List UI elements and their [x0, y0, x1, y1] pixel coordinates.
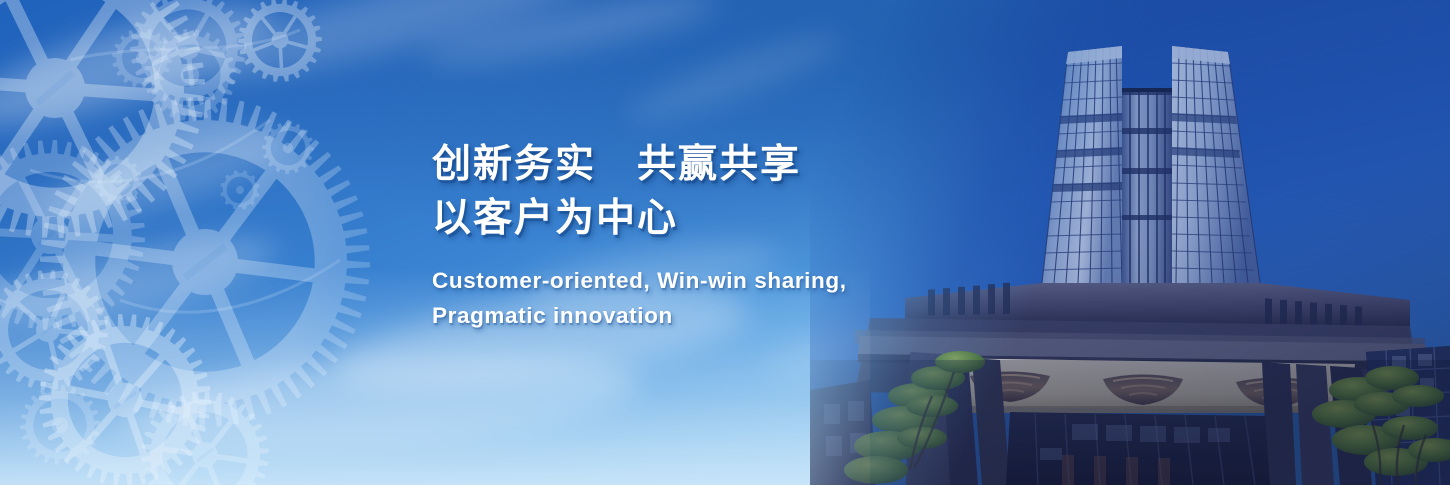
hero-banner: 创新务实 共赢共享 以客户为中心 Customer-oriented, Win-…: [0, 0, 1450, 485]
banner-copy: 创新务实 共赢共享 以客户为中心 Customer-oriented, Win-…: [432, 138, 952, 333]
headline-line-2: 以客户为中心: [432, 192, 952, 246]
subheadline-line-1: Customer-oriented, Win-win sharing,: [432, 263, 952, 298]
subheadline-line-2: Pragmatic innovation: [432, 298, 952, 333]
headline-line-1: 创新务实 共赢共享: [432, 138, 952, 192]
subheadline: Customer-oriented, Win-win sharing, Prag…: [432, 263, 952, 333]
